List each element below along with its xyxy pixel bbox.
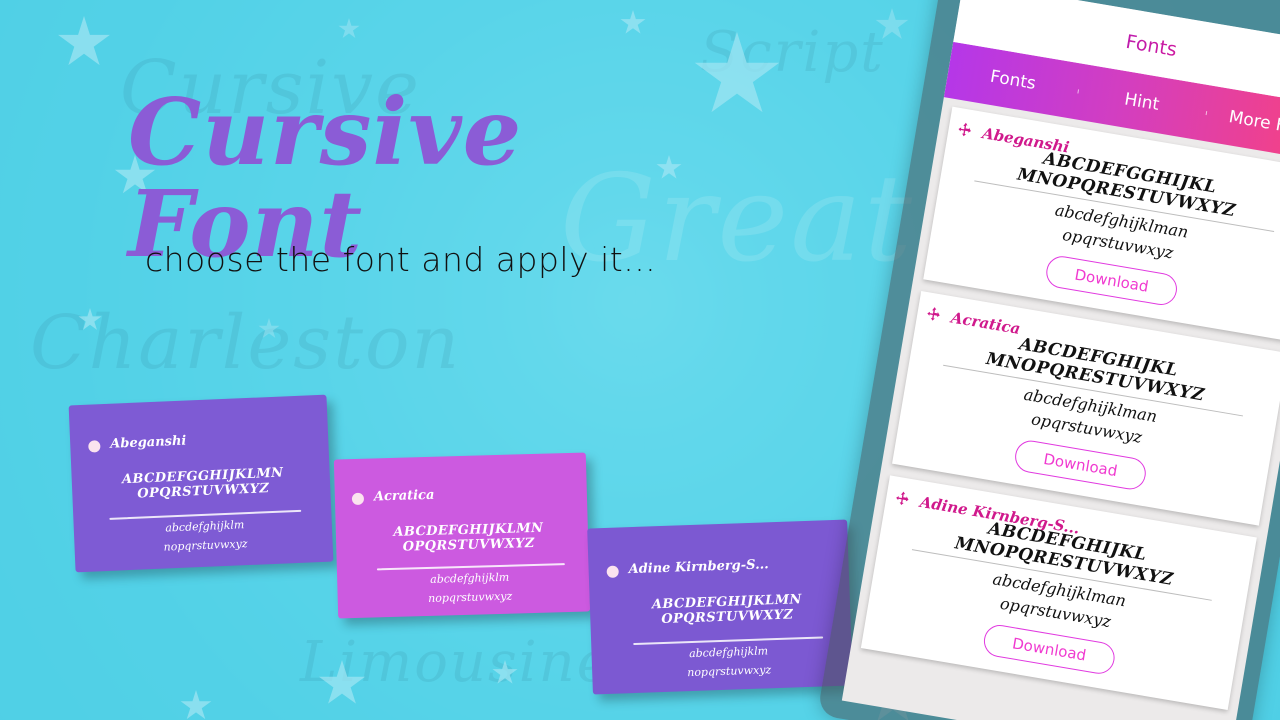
font-preview-card[interactable]: Acratica ABCDEFGHIJKLMN OPQRSTUVWXYZ abc… (334, 453, 590, 619)
card-font-name: Abeganshi (110, 434, 187, 452)
bullet-dot (606, 566, 618, 578)
tab-fonts[interactable]: Fonts (947, 60, 1079, 102)
tab-hint[interactable]: Hint (1076, 81, 1208, 123)
card-font-name: Acratica (374, 488, 435, 505)
download-button[interactable]: Download (1044, 254, 1179, 308)
card-sample-lower-2: nopqrstuvwxyz (388, 589, 553, 606)
card-font-name: Adine Kirnberg-S... (628, 557, 769, 577)
tab-more-font[interactable]: More Font (1205, 103, 1280, 145)
move-handle-icon[interactable] (924, 305, 942, 323)
card-sample-upper-2: OPQRSTUVWXYZ (642, 608, 812, 629)
bullet-dot (88, 440, 100, 452)
download-button[interactable]: Download (1013, 438, 1148, 492)
bullet-dot (352, 493, 364, 505)
move-handle-icon[interactable] (893, 490, 911, 508)
card-sample-lower-1: abcdefghijklm (643, 644, 813, 663)
font-preview-card[interactable]: Adine Kirnberg-S... ABCDEFGHIJKLMN OPQRS… (587, 520, 853, 695)
download-button[interactable]: Download (982, 623, 1117, 677)
card-sample-lower-2: nopqrstuvwxyz (120, 536, 290, 556)
card-sample-upper-2: OPQRSTUVWXYZ (386, 536, 551, 556)
move-handle-icon[interactable] (955, 121, 973, 139)
card-sample-lower-2: nopqrstuvwxyz (644, 662, 814, 681)
screenshot-stage: Great Vibes Cursive Charleston Script Li… (0, 0, 1280, 720)
card-sample-lower-1: abcdefghijklm (387, 571, 552, 588)
card-sample-lower-1: abcdefghijklm (120, 517, 290, 537)
font-preview-card[interactable]: Abeganshi ABCDEFGGHIJKLMN OPQRSTUVWXYZ a… (69, 395, 334, 573)
page-subtitle: choose the font and apply it... (145, 240, 656, 279)
